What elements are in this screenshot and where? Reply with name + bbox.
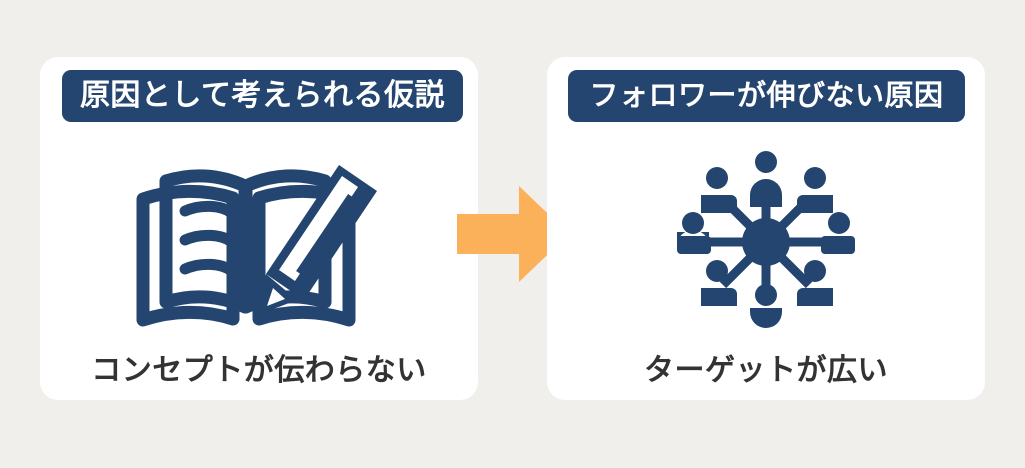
card-cause: フォロワーが伸びない原因	[547, 57, 985, 400]
card-hypothesis: 原因として考えられる仮説	[40, 57, 478, 400]
network-people-hub-icon	[675, 151, 857, 338]
open-book-with-pencil-icon	[133, 149, 385, 340]
badge-hypothesis-label: 原因として考えられる仮説	[80, 81, 445, 111]
badge-cause: フォロワーが伸びない原因	[568, 70, 965, 122]
icon-area-left	[40, 137, 478, 352]
diagram-canvas: 原因として考えられる仮説	[0, 0, 1025, 468]
caption-left: コンセプトが伝わらない	[40, 353, 478, 389]
badge-cause-label: フォロワーが伸びない原因	[589, 82, 943, 111]
icon-area-right	[547, 137, 985, 352]
caption-right: ターゲットが広い	[547, 353, 985, 389]
badge-hypothesis: 原因として考えられる仮説	[62, 70, 463, 122]
